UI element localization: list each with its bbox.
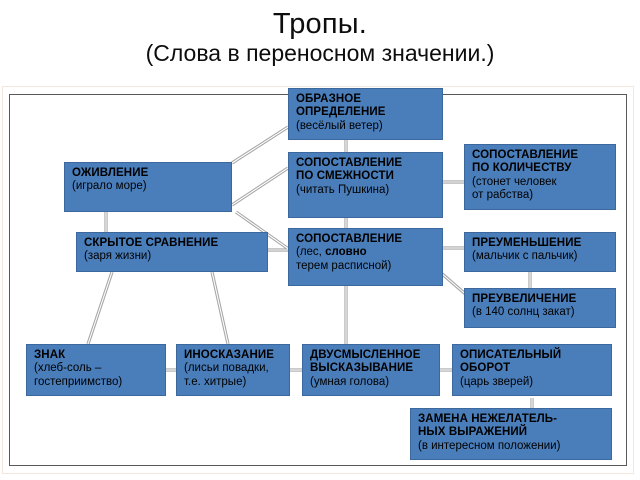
node-example-prefix: (лес, bbox=[296, 246, 325, 258]
node-heading: ПРЕУВЕЛИЧЕНИЕ bbox=[472, 293, 609, 306]
node-heading-2: ВЫСКАЗЫВАНИЕ bbox=[310, 362, 433, 375]
node-example: (играло море) bbox=[72, 180, 225, 193]
node-example: (хлеб-соль – bbox=[34, 362, 159, 375]
node-example: (мальчик с пальчик) bbox=[472, 250, 609, 263]
node-heading: ОЖИВЛЕНИЕ bbox=[72, 167, 225, 180]
node-heading: ИНОСКАЗАНИЕ bbox=[184, 349, 283, 362]
node-zamena-nezhelatelnyh-vyrazhenii[interactable]: ЗАМЕНА НЕЖЕЛАТЕЛЬ- НЫХ ВЫРАЖЕНИЙ (в инте… bbox=[410, 408, 612, 460]
node-example: (в интересном положении) bbox=[418, 440, 605, 453]
node-heading: ОБРАЗНОЕ bbox=[296, 93, 436, 106]
node-example: (царь зверей) bbox=[460, 376, 605, 389]
slide-root: Тропы. (Слова в переносном значении.) bbox=[0, 0, 640, 480]
node-heading: ЗНАК bbox=[34, 349, 159, 362]
node-heading-2: НЫХ ВЫРАЖЕНИЙ bbox=[418, 426, 605, 439]
node-sopostavlenie-po-smezhnosti[interactable]: СОПОСТАВЛЕНИЕ ПО СМЕЖНОСТИ (читать Пушки… bbox=[288, 152, 443, 218]
node-opisatelnyi-oborot[interactable]: ОПИСАТЕЛЬНЫЙ ОБОРОТ (царь зверей) bbox=[452, 344, 612, 396]
node-preumenshenie[interactable]: ПРЕУМЕНЬШЕНИЕ (мальчик с пальчик) bbox=[464, 232, 616, 272]
node-heading: СОПОСТАВЛЕНИЕ bbox=[296, 157, 436, 170]
node-example: (лисьи повадки, bbox=[184, 362, 283, 375]
node-heading-2: ОПРЕДЕЛЕНИЕ bbox=[296, 106, 436, 119]
node-example-2: гостеприимство) bbox=[34, 376, 159, 389]
node-heading: СКРЫТОЕ СРАВНЕНИЕ bbox=[84, 237, 261, 250]
node-example: (весёлый ветер) bbox=[296, 120, 436, 133]
node-sopostavlenie[interactable]: СОПОСТАВЛЕНИЕ (лес, словно терем расписн… bbox=[288, 228, 443, 286]
node-heading: ЗАМЕНА НЕЖЕЛАТЕЛЬ- bbox=[418, 413, 605, 426]
node-example-line-2: терем расписной) bbox=[296, 260, 436, 273]
node-example: (заря жизни) bbox=[84, 250, 261, 263]
node-heading-2: ОБОРОТ bbox=[460, 362, 605, 375]
node-preuvelichenie[interactable]: ПРЕУВЕЛИЧЕНИЕ (в 140 солнц закат) bbox=[464, 288, 616, 328]
node-heading-2: ПО КОЛИЧЕСТВУ bbox=[472, 162, 609, 175]
node-ozhivlenie[interactable]: ОЖИВЛЕНИЕ (играло море) bbox=[64, 162, 232, 212]
node-znak[interactable]: ЗНАК (хлеб-соль – гостеприимство) bbox=[26, 344, 166, 396]
node-sopostavlenie-po-kolichestvu[interactable]: СОПОСТАВЛЕНИЕ ПО КОЛИЧЕСТВУ (стонет чело… bbox=[464, 144, 616, 210]
node-example-2: т.е. хитрые) bbox=[184, 376, 283, 389]
node-heading: СОПОСТАВЛЕНИЕ bbox=[296, 233, 436, 246]
node-example: (умная голова) bbox=[310, 376, 433, 389]
node-example: (в 140 солнц закат) bbox=[472, 306, 609, 319]
node-heading-2: ПО СМЕЖНОСТИ bbox=[296, 170, 436, 183]
node-dvusmyslennoe-vyskazyvanie[interactable]: ДВУСМЫСЛЕННОЕ ВЫСКАЗЫВАНИЕ (умная голова… bbox=[302, 344, 440, 396]
node-example-line-1: (лес, словно bbox=[296, 246, 436, 259]
node-heading: ОПИСАТЕЛЬНЫЙ bbox=[460, 349, 605, 362]
node-example: (читать Пушкина) bbox=[296, 184, 436, 197]
node-obraznoe-opredelenie[interactable]: ОБРАЗНОЕ ОПРЕДЕЛЕНИЕ (весёлый ветер) bbox=[288, 88, 443, 140]
node-example-emphasis: словно bbox=[325, 246, 367, 258]
node-skrytoe-sravnenie[interactable]: СКРЫТОЕ СРАВНЕНИЕ (заря жизни) bbox=[76, 232, 268, 272]
node-heading: СОПОСТАВЛЕНИЕ bbox=[472, 149, 609, 162]
node-heading: ДВУСМЫСЛЕННОЕ bbox=[310, 349, 433, 362]
node-example: (стонет человек bbox=[472, 176, 609, 189]
node-heading: ПРЕУМЕНЬШЕНИЕ bbox=[472, 237, 609, 250]
node-inoskazanie[interactable]: ИНОСКАЗАНИЕ (лисьи повадки, т.е. хитрые) bbox=[176, 344, 290, 396]
node-example-2: от рабства) bbox=[472, 189, 609, 202]
